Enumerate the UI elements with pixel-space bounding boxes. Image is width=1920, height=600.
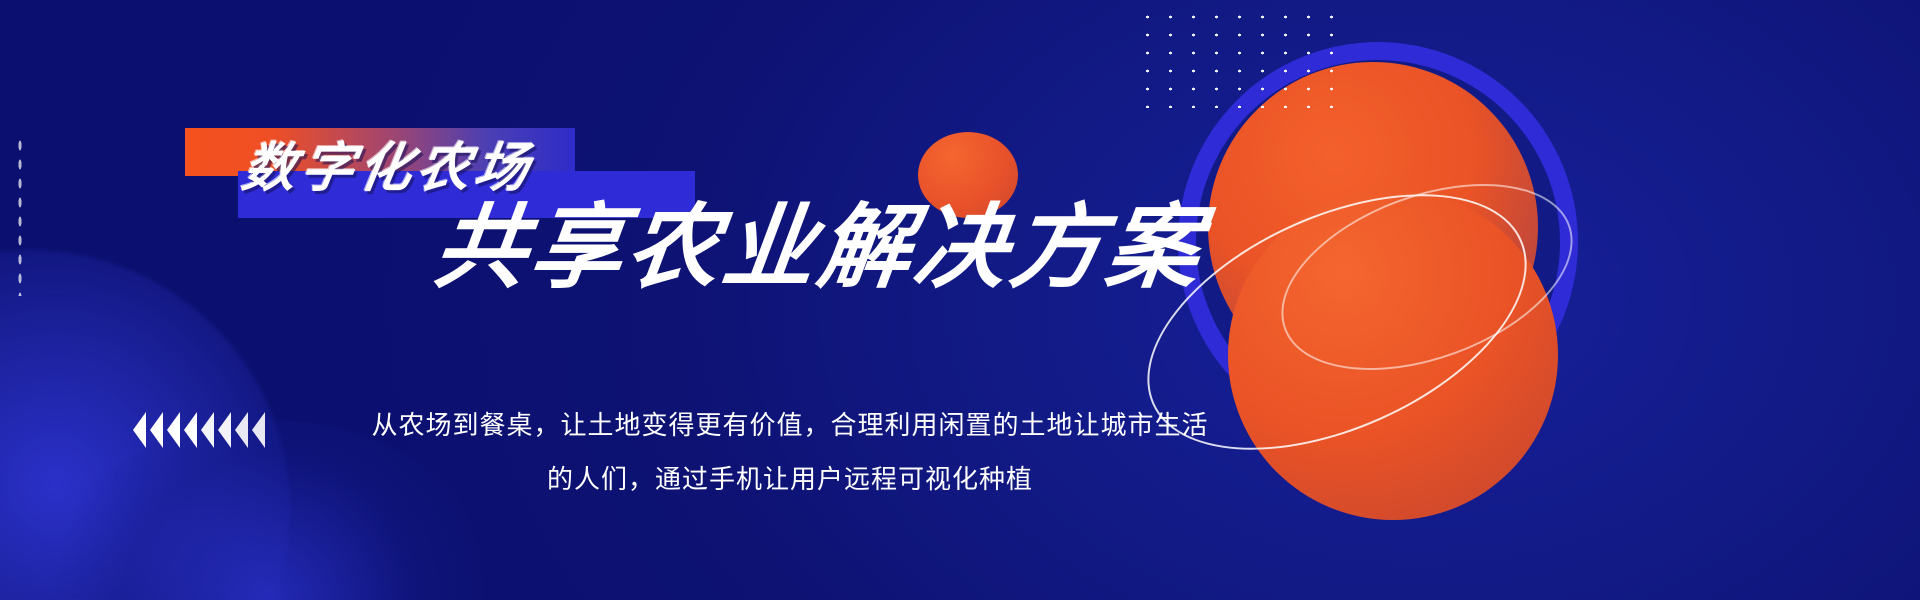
subtitle: 从农场到餐桌，让土地变得更有价值，合理利用闲置的土地让城市生活 的人们，通过手机… [340, 398, 1240, 506]
chevron-left-icon [184, 412, 197, 448]
orange-sphere-overlap-icon [1228, 190, 1558, 520]
chevron-left-icon [150, 412, 163, 448]
subtitle-line-2: 的人们，通过手机让用户远程可视化种植 [340, 452, 1240, 506]
chevron-arrows-icon [133, 412, 265, 448]
chevron-left-icon [218, 412, 231, 448]
chevron-left-icon [167, 412, 180, 448]
dot-grid-icon [1136, 8, 1348, 108]
chevron-left-icon [201, 412, 214, 448]
page-title: 共享农业解决方案 [429, 200, 1209, 297]
chevron-left-icon [252, 412, 265, 448]
chevron-left-icon [235, 412, 248, 448]
chevron-left-icon [133, 412, 146, 448]
subtitle-line-1: 从农场到餐桌，让土地变得更有价值，合理利用闲置的土地让城市生活 [340, 398, 1240, 452]
badge: 数字化农场 [185, 128, 575, 178]
dot-column-icon [17, 136, 23, 296]
badge-label: 数字化农场 [239, 142, 537, 195]
promo-banner: 数字化农场 共享农业解决方案 从农场到餐桌，让土地变得更有价值，合理利用闲置的土… [0, 0, 1920, 600]
